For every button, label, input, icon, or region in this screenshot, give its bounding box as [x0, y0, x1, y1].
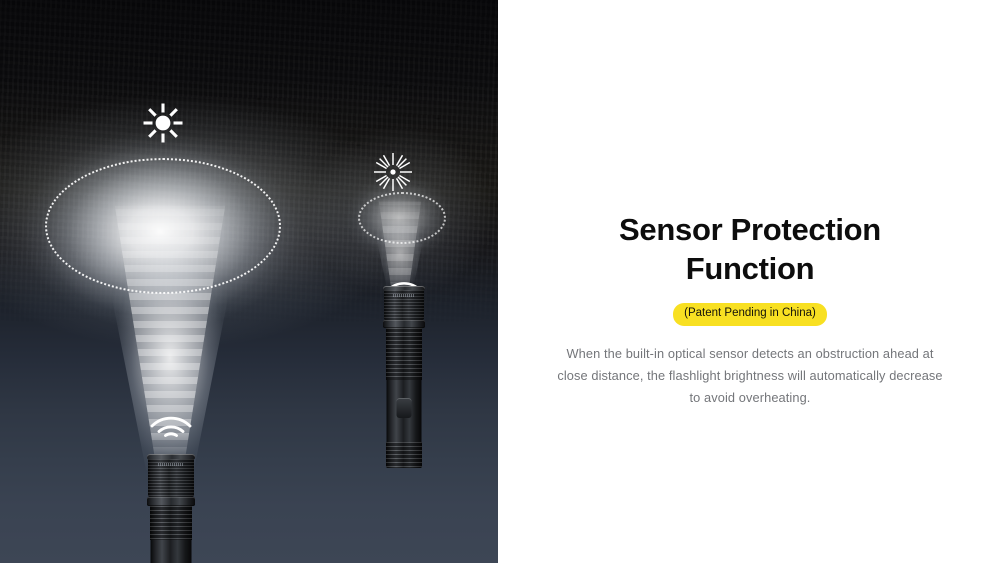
flashlight-logo: [158, 463, 184, 466]
feature-text-panel: Sensor Protection Function (Patent Pendi…: [500, 0, 1000, 563]
product-feature-banner: Sensor Protection Function (Patent Pendi…: [0, 0, 1000, 563]
flashlight-barrel: [151, 540, 192, 563]
flashlight-collar-dimmed: [383, 320, 425, 328]
flashlight-grip: [150, 506, 192, 540]
concrete-wall-texture: [0, 0, 498, 330]
feature-description: When the built-in optical sensor detects…: [554, 343, 946, 409]
patent-badge: (Patent Pending in China): [673, 303, 827, 326]
page-title: Sensor Protection Function: [619, 210, 881, 288]
flashlight-barrel-dimmed: [387, 380, 422, 442]
flashlight-logo-dimmed: [393, 294, 415, 297]
headline-line-1: Sensor Protection: [619, 212, 881, 247]
starburst-icon: [371, 150, 415, 194]
flashlight-collar: [147, 497, 195, 506]
sensor-waves-icon: [148, 404, 194, 438]
product-photo-panel: [0, 0, 498, 563]
headline-line-2: Function: [619, 249, 881, 288]
full-brightness-flashlight: [143, 454, 199, 563]
flashlight-grip-dimmed: [386, 328, 422, 380]
flashlight-tailcap-dimmed: [386, 442, 422, 468]
dimmed-flashlight: [379, 286, 429, 468]
flashlight-side-switch: [397, 398, 412, 418]
sun-icon: [141, 101, 185, 145]
